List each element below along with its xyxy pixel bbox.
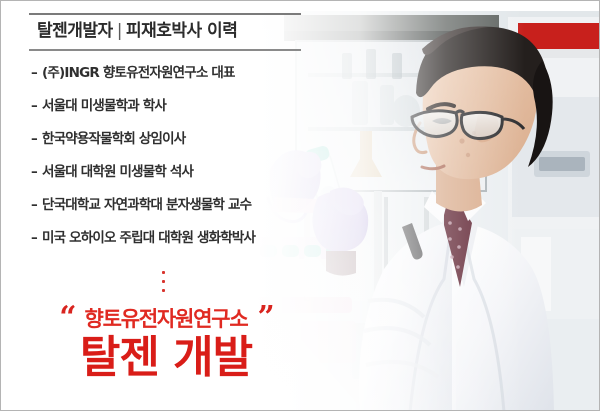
list-item: –(주)INGR 향토유전자원연구소 대표 [31, 67, 361, 100]
list-item: –서울대 대학원 미생물학 석사 [31, 166, 361, 199]
profile-card: 탈젠개발자|피재호박사 이력 –(주)INGR 향토유전자원연구소 대표 –서울… [0, 0, 600, 411]
header: 탈젠개발자|피재호박사 이력 [29, 13, 301, 51]
title-separator: | [113, 21, 126, 41]
page-title-left: 탈젠개발자 [37, 21, 113, 41]
list-item: –한국약용작물학회 상임이사 [31, 133, 361, 166]
ellipsis-dot [162, 280, 165, 283]
bullet-dash: – [31, 133, 42, 147]
quote-open-icon: “ [59, 306, 74, 331]
bullet-dash: – [31, 232, 42, 246]
credential-label: 한국약용작물학회 상임이사 [42, 131, 185, 147]
quote-close-icon: ” [258, 306, 273, 331]
credential-label: (주)INGR 향토유전자원연구소 대표 [42, 65, 235, 81]
list-item: –미국 오하이오 주립대 대학원 생화학박사 [31, 232, 361, 265]
bullet-dash: – [31, 166, 42, 180]
headline-subtitle: 향토유전자원연구소 [84, 306, 247, 330]
credential-label: 서울대 미생물학과 학사 [42, 98, 166, 114]
page-title: 탈젠개발자|피재호박사 이력 [29, 15, 301, 49]
ellipsis-dot [162, 271, 165, 274]
header-rule-bottom [29, 49, 301, 51]
headline-title: 탈젠 개발 [1, 335, 331, 381]
bullet-dash: – [31, 100, 42, 114]
credential-label: 미국 오하이오 주립대 대학원 생화학박사 [42, 230, 255, 246]
list-item: –단국대학교 자연과학대 분자생물학 교수 [31, 199, 361, 232]
credential-list: –(주)INGR 향토유전자원연구소 대표 –서울대 미생물학과 학사 –한국약… [31, 67, 361, 265]
vertical-ellipsis-icon [162, 271, 165, 292]
bullet-dash: – [31, 67, 42, 81]
headline: “ 향토유전자원연구소 ” 탈젠 개발 [1, 306, 331, 381]
credential-label: 단국대학교 자연과학대 분자생물학 교수 [42, 197, 251, 213]
page-title-right: 피재호박사 이력 [126, 21, 237, 41]
bullet-dash: – [31, 199, 42, 213]
list-item: –서울대 미생물학과 학사 [31, 100, 361, 133]
ellipsis-dot [162, 289, 165, 292]
headline-subtitle-row: “ 향토유전자원연구소 ” [1, 306, 331, 331]
credential-label: 서울대 대학원 미생물학 석사 [42, 164, 193, 180]
